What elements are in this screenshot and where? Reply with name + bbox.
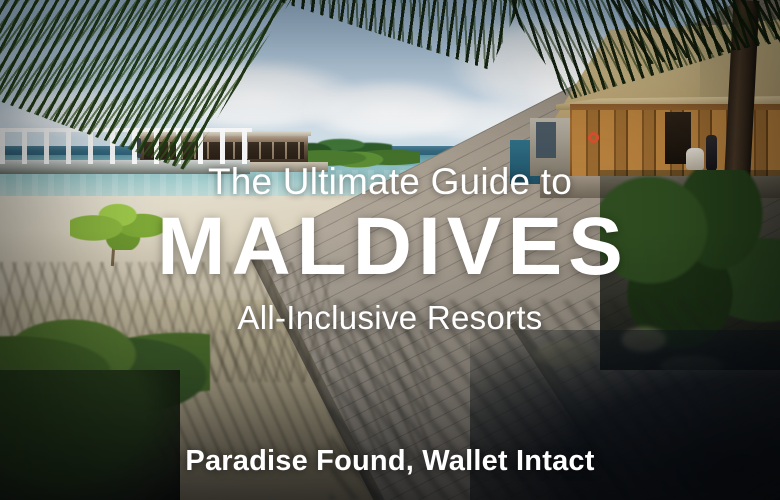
hero-title: MALDIVES bbox=[0, 206, 780, 288]
hero-eyebrow: The Ultimate Guide to bbox=[0, 163, 780, 200]
hero-tagline: Paradise Found, Wallet Intact bbox=[0, 447, 780, 476]
hero-banner: The Ultimate Guide to MALDIVES All-Inclu… bbox=[0, 0, 780, 500]
text-overlay: The Ultimate Guide to MALDIVES All-Inclu… bbox=[0, 0, 780, 500]
hero-subtitle: All-Inclusive Resorts bbox=[0, 301, 780, 334]
